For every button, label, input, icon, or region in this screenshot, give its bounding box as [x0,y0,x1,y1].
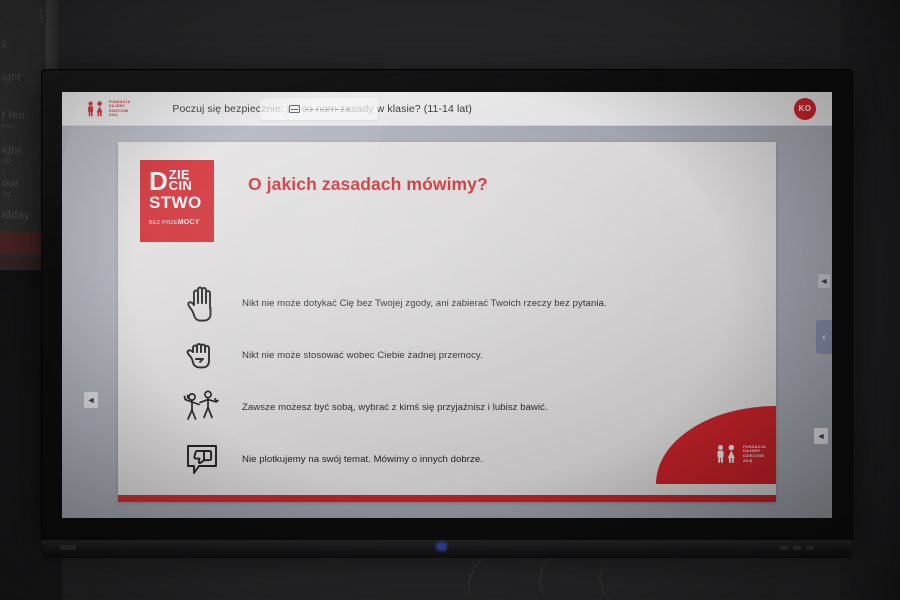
poster-line: idday [2,209,30,222]
bullet-text: Nikt nie może stosować wobec Ciebie żadn… [242,349,483,362]
two-people-playing-icon [180,385,224,429]
app-header: FUNDACJA DAJEMY DZIECIOM SIŁĘ Poczuj się… [62,92,832,126]
slide: D ZIE CIŃ STWO BEZ PRZEMOCY O jakich zas… [118,142,776,502]
poster-line: ight [2,144,21,157]
nav-collapse-top-button[interactable]: ◄ [818,274,830,288]
brand-tagline-light: BEZ PRZE [149,220,178,226]
fist-icon [180,333,224,377]
bullet-item: Zawsze możesz być sobą, wybrać z kimś si… [180,382,760,432]
slide-accent-bar [118,495,776,502]
brand-text-stwo: STWO [149,194,206,212]
brand-tagline: BEZ PRZEMOCY [149,219,206,226]
display-brand-mark [60,545,76,550]
room-scene: k ight t ten przy ight sfg our sfg idday… [0,0,900,600]
display-ports [780,546,818,550]
poster-line: k [2,39,8,51]
two-children-figures-icon [715,444,739,464]
brand-letter-d: D [149,170,167,192]
header-overlay-tooltip[interactable] [260,98,378,120]
display-bottom-bezel [42,540,852,558]
bullet-item: Nikt nie może stosować wobec Ciebie żadn… [180,330,760,380]
dziecinstwo-bez-przemocy-logo: D ZIE CIŃ STWO BEZ PRZEMOCY [140,160,214,242]
header-logo-text: FUNDACJA DAJEMY DZIECIOM SIŁĘ [109,100,130,118]
poster-subline: sfg [2,158,11,164]
brand-text-cin: CIŃ [169,180,192,192]
poster-line: our [2,177,19,190]
bullet-text: Zawsze możesz być sobą, wybrać z kimś si… [242,401,548,414]
two-children-figures-icon [86,101,106,117]
footer-logo-text: FUNDACJA DAJEMY DZIECIOM SIŁĘ [743,445,766,463]
slide-title: O jakich zasadach mówimy? [248,174,488,195]
screen: FUNDACJA DAJEMY DZIECIOM SIŁĘ Poczuj się… [62,92,832,518]
display-monitor: FUNDACJA DAJEMY DZIECIOM SIŁĘ Poczuj się… [42,70,852,540]
speech-bubble-thumbs-down-icon [180,437,224,481]
avatar[interactable]: KO [794,98,816,120]
bullet-text: Nie plotkujemy na swój temat. Mówimy o i… [242,453,483,466]
brand-tagline-bold: MOCY [178,219,200,226]
nav-collapse-bottom-button[interactable]: ◄ [814,428,828,444]
poster-line: ight [2,71,21,84]
bullet-item: Nikt nie może dotykać Cię bez Twojej zgo… [180,278,760,328]
poster-subline: przy [2,123,15,129]
power-led-indicator [437,543,446,550]
nav-prev-button[interactable]: ◄ [84,392,98,408]
window-icon [289,105,300,113]
slide-viewport: D ZIE CIŃ STWO BEZ PRZEMOCY O jakich zas… [62,126,832,518]
poster-subline: sfg [2,191,11,197]
poster-line: t ten [2,109,25,122]
open-hand-icon [180,281,224,325]
header-logo: FUNDACJA DAJEMY DZIECIOM SIŁĘ [86,100,130,118]
poster-vertical-text: st.com [38,8,44,23]
footer-logo: FUNDACJA DAJEMY DZIECIOM SIŁĘ [715,444,766,464]
nav-panel-toggle-button[interactable]: ‹ [816,320,832,354]
bullet-text: Nikt nie może dotykać Cię bez Twojej zgo… [242,297,607,310]
tooltip-placeholder-dashes [305,109,349,110]
